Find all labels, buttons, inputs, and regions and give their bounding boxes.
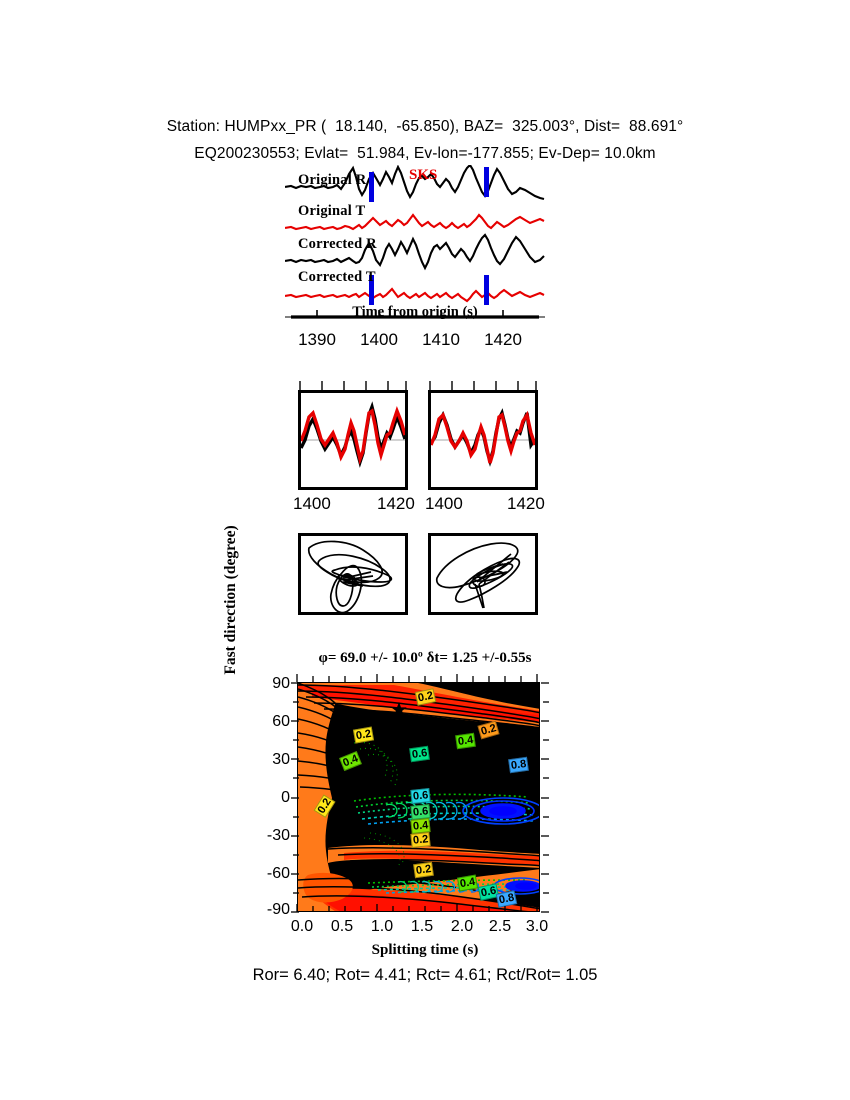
xtick-0-5: 0.5: [331, 918, 353, 936]
fast-slow-traces-uncorrected: [301, 393, 405, 487]
fast-slow-panel-corrected: [428, 390, 538, 490]
cmp-left-tick-1400: 1400: [293, 494, 331, 514]
xtick-2-5: 2.5: [489, 918, 511, 936]
contour-ylabel: Fast direction (degree): [222, 500, 240, 700]
event-info-line: EQ200230553; Evlat= 51.984, Ev-lon=-177.…: [0, 145, 850, 163]
window-end-marker: [484, 167, 489, 197]
particle-motion-uncorrected: [301, 536, 405, 612]
contour-ytick-labels: 90 60 30 0 -30 -60 -90: [240, 682, 290, 912]
time-tick-1420: 1420: [484, 330, 522, 350]
xtick-3-0: 3.0: [526, 918, 548, 936]
ytick-m60: -60: [267, 865, 290, 883]
station-info-line: Station: HUMPxx_PR ( 18.140, -65.850), B…: [0, 118, 850, 136]
window-end-marker-corrected: [484, 275, 489, 305]
trace-corrected-t: [285, 289, 544, 301]
time-tick-1410: 1410: [422, 330, 460, 350]
comparison-top-ticks: [298, 381, 538, 391]
ytick-60: 60: [272, 713, 290, 731]
particle-motion-corrected: [431, 536, 535, 612]
cmp-right-tick-1400: 1400: [425, 494, 463, 514]
cmp-right-tick-1420: 1420: [507, 494, 545, 514]
trace-label-original-r: Original R: [298, 172, 366, 189]
trace-label-corrected-t: Corrected T: [298, 269, 376, 286]
contour-plot-title: φ= 69.0 +/- 10.0º δt= 1.25 +/-0.55s: [0, 650, 850, 667]
contour-xlabel: Splitting time (s): [0, 942, 850, 959]
contour-axis-ticks: [291, 672, 549, 920]
contour-xtick-labels: 0.0 0.5 1.0 1.5 2.0 2.5 3.0: [297, 918, 540, 940]
ytick-0: 0: [281, 789, 290, 807]
window-start-marker: [369, 172, 374, 202]
fast-slow-traces-corrected: [431, 393, 535, 487]
figure-page: Station: HUMPxx_PR ( 18.140, -65.850), B…: [0, 0, 850, 1100]
time-tick-1400: 1400: [360, 330, 398, 350]
xtick-1-5: 1.5: [411, 918, 433, 936]
xtick-1-0: 1.0: [371, 918, 393, 936]
ytick-30: 30: [272, 751, 290, 769]
time-axis-tick-labels: 1390 1400 1410 1420: [265, 330, 565, 356]
ytick-m30: -30: [267, 827, 290, 845]
xtick-2-0: 2.0: [451, 918, 473, 936]
particle-motion-panel-uncorrected: [298, 533, 408, 615]
sks-phase-label: SKS: [409, 167, 437, 184]
ytick-90: 90: [272, 675, 290, 693]
trace-label-corrected-r: Corrected R: [298, 236, 377, 253]
time-axis-title: Time from origin (s): [285, 304, 545, 321]
cmp-left-tick-1420: 1420: [377, 494, 415, 514]
ytick-m90: -90: [267, 901, 290, 919]
particle-motion-panel-corrected: [428, 533, 538, 615]
xtick-0-0: 0.0: [291, 918, 313, 936]
quality-stats-line: Ror= 6.40; Rot= 4.41; Rct= 4.61; Rct/Rot…: [0, 966, 850, 985]
time-tick-1390: 1390: [298, 330, 336, 350]
fast-slow-panel-uncorrected: [298, 390, 408, 490]
trace-label-original-t: Original T: [298, 203, 365, 220]
